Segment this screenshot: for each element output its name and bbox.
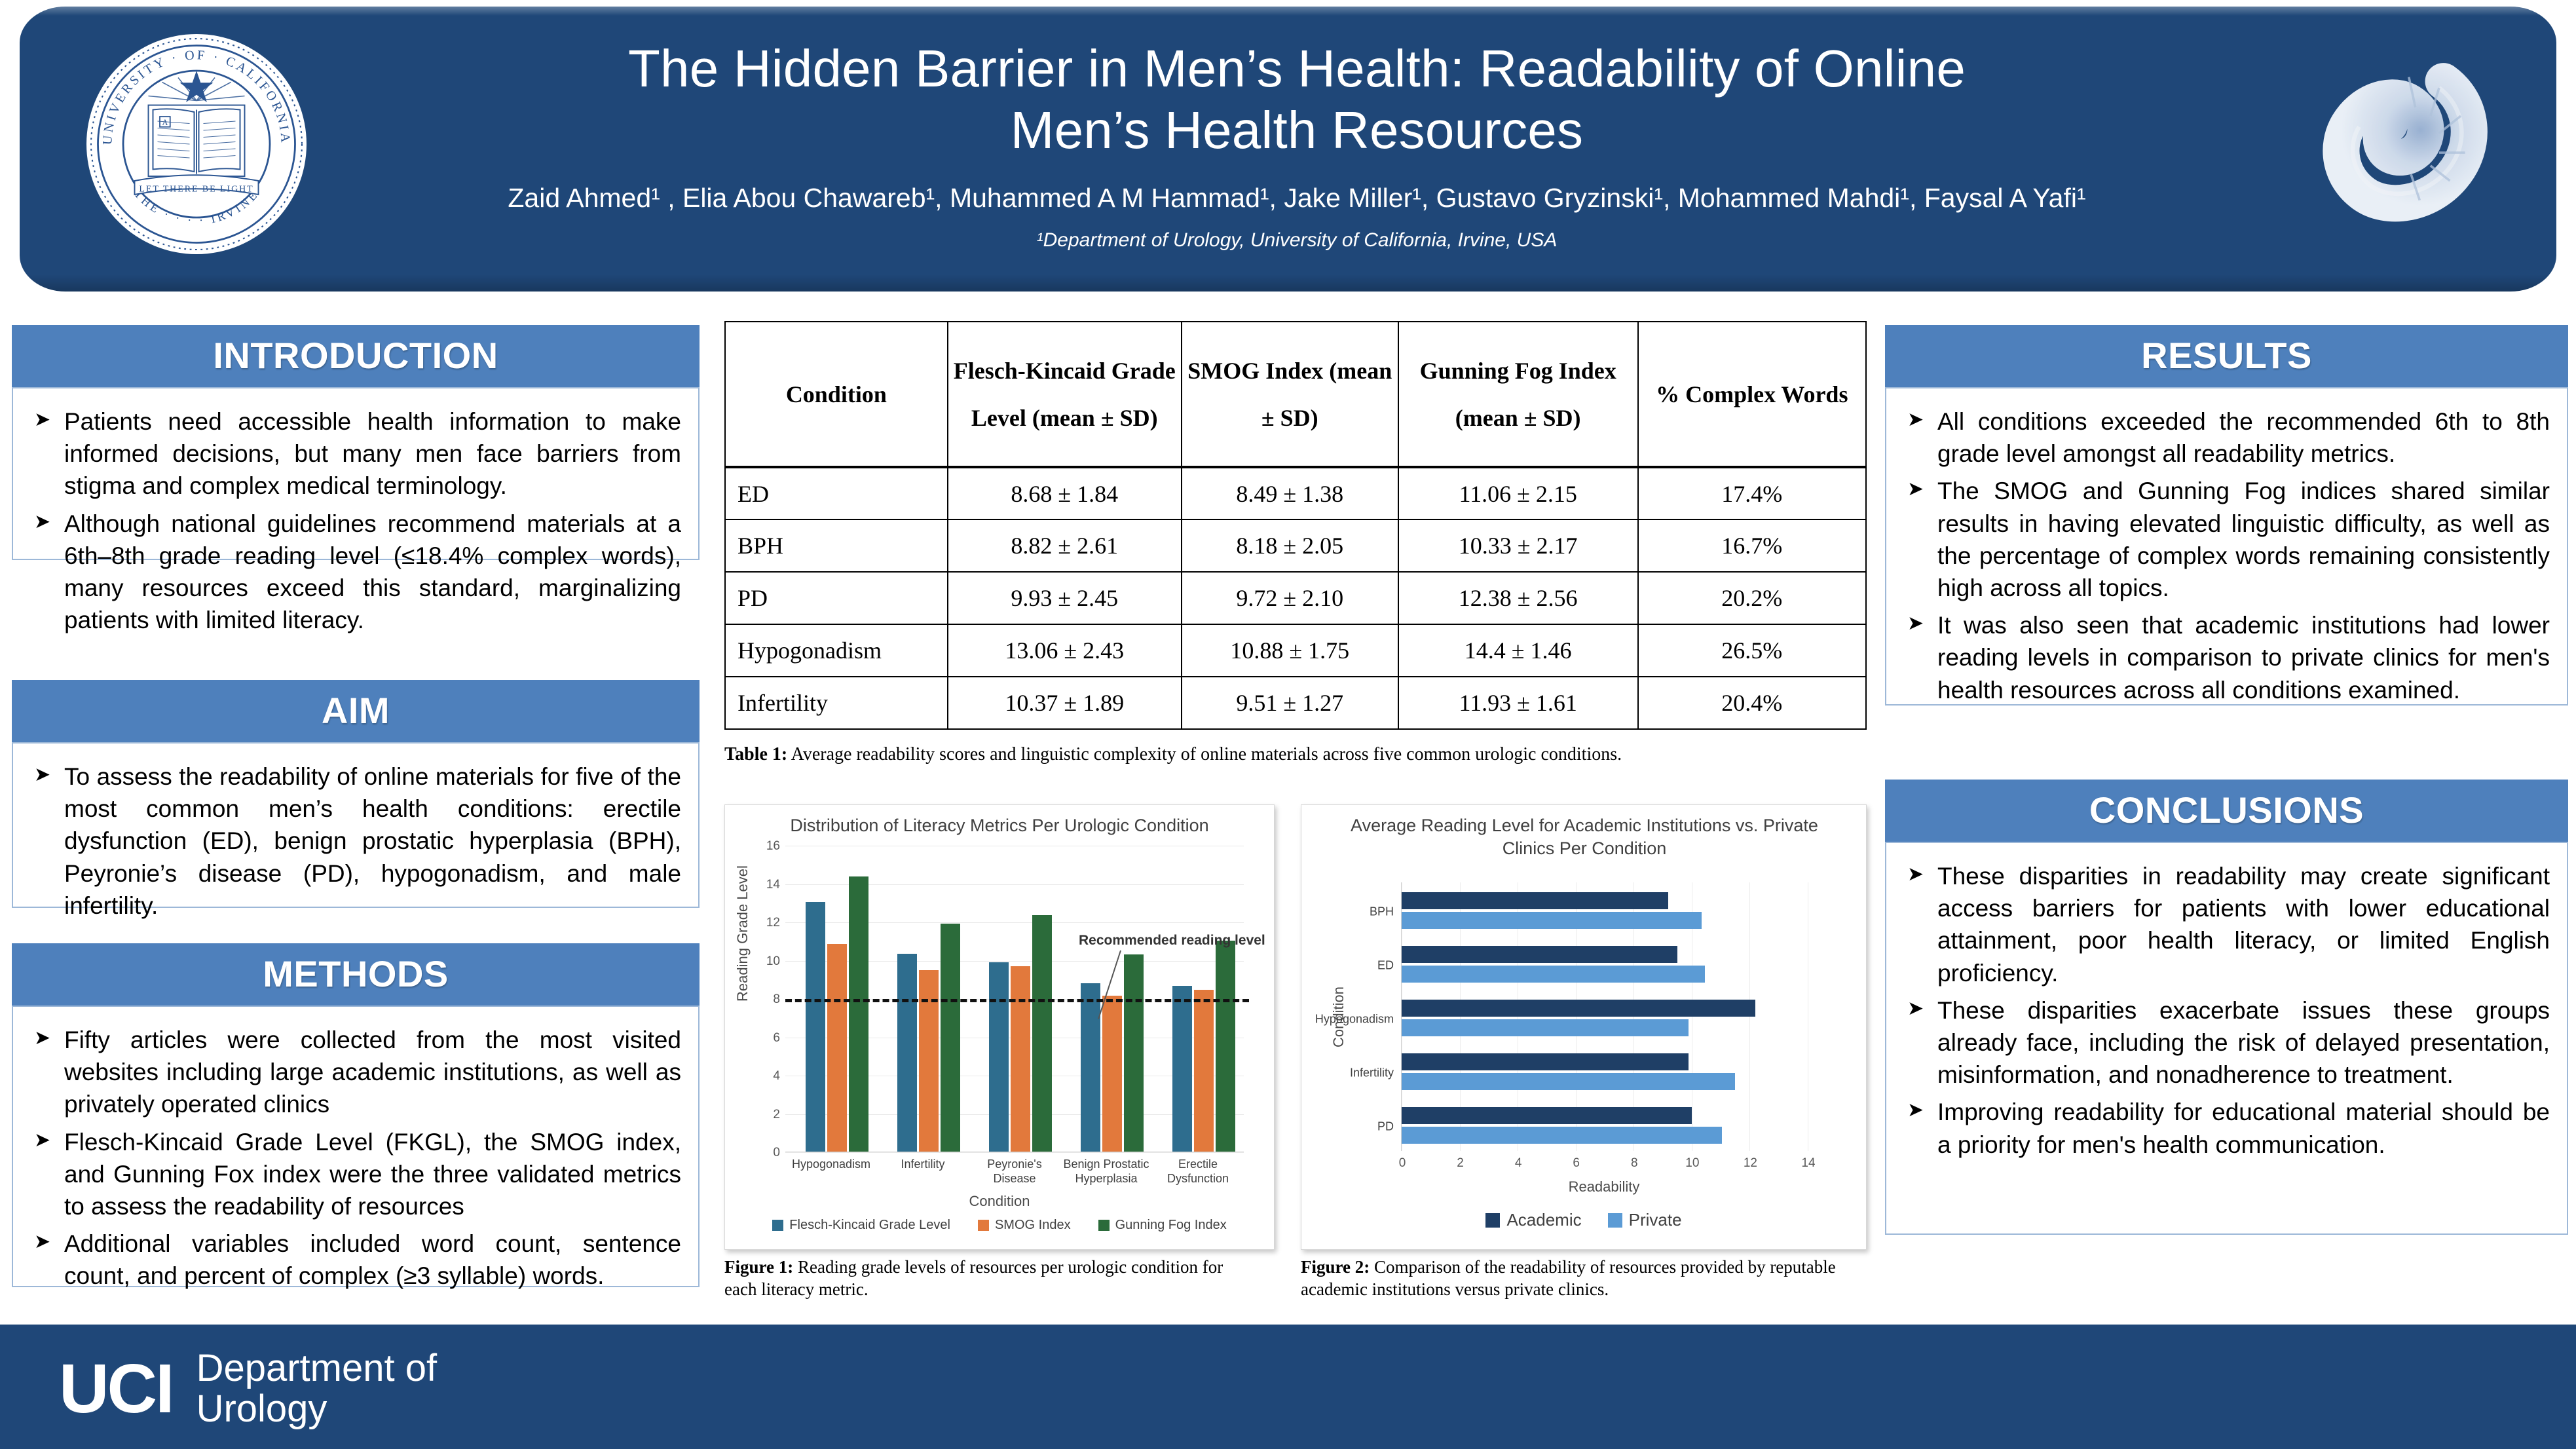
svg-text:A: A: [162, 118, 168, 127]
cell-condition: Hypogonadism: [725, 624, 948, 677]
fig1-y-tick: 0: [773, 1146, 780, 1160]
fig2-y-tick: Infertility: [1350, 1066, 1394, 1080]
cell-gunning-fog: 14.4 ± 1.46: [1398, 624, 1638, 677]
nautilus-shell-icon: [2288, 29, 2504, 246]
cell-condition: PD: [725, 572, 948, 624]
fig1-bar: [1032, 915, 1052, 1152]
list-item: It was also seen that academic instituti…: [1903, 609, 2550, 706]
fig1-title: Distribution of Literacy Metrics Per Uro…: [725, 816, 1274, 836]
fig2-title: Average Reading Level for Academic Insti…: [1328, 814, 1841, 860]
fig1-bar: [989, 962, 1009, 1152]
fig2-y-tick: BPH: [1370, 905, 1394, 918]
aim-bullets: To assess the readability of online mate…: [30, 761, 681, 922]
poster-root: UNIVERSITY · OF · CALIFORNIA THE · · · ·…: [0, 0, 2576, 1449]
fig1-bar: [919, 970, 939, 1152]
legend-label: Flesch-Kincaid Grade Level: [789, 1218, 950, 1233]
fig1-y-tick: 2: [773, 1108, 780, 1122]
col-smog: SMOG Index (mean ± SD): [1182, 322, 1398, 467]
section-conclusions: CONCLUSIONS These disparities in readabi…: [1885, 780, 2568, 1235]
cell-complex: 26.5%: [1638, 624, 1866, 677]
list-item: Flesch-Kincaid Grade Level (FKGL), the S…: [30, 1126, 681, 1223]
cell-gunning-fog: 12.38 ± 2.56: [1398, 572, 1638, 624]
fig2-bar: [1402, 946, 1677, 963]
fig2-bar: [1402, 892, 1668, 909]
list-item: These disparities exacerbate issues thes…: [1903, 994, 2550, 1091]
fig2-x-tick: 12: [1744, 1156, 1757, 1171]
fig2-x-tick: 10: [1685, 1156, 1699, 1171]
fig2-bar: [1402, 912, 1702, 929]
fig1-x-tick: Infertility: [877, 1157, 969, 1172]
cell-smog: 10.88 ± 1.75: [1182, 624, 1398, 677]
table-row: BPH 8.82 ± 2.61 8.18 ± 2.05 10.33 ± 2.17…: [725, 519, 1866, 572]
table-row: ED 8.68 ± 1.84 8.49 ± 1.38 11.06 ± 2.15 …: [725, 467, 1866, 519]
fig2-legend: AcademicPrivate: [1301, 1210, 1866, 1230]
fig1-caption-text: Reading grade levels of resources per ur…: [724, 1257, 1223, 1299]
list-item: The SMOG and Gunning Fog indices shared …: [1903, 475, 2550, 604]
fig2-bar: [1402, 1127, 1722, 1144]
fig1-x-tick: Peyronie's Disease: [969, 1157, 1060, 1186]
fig1-legend-item: Gunning Fog Index: [1098, 1218, 1227, 1233]
col-condition: Condition: [725, 322, 948, 467]
cell-fkgl: 8.68 ± 1.84: [948, 467, 1182, 519]
methods-bullets: Fifty articles were collected from the m…: [30, 1024, 681, 1292]
title-line-2: Men’s Health Resources: [439, 100, 2155, 161]
page-title: The Hidden Barrier in Men’s Health: Read…: [439, 38, 2155, 162]
fig1-bar: [1081, 983, 1100, 1152]
list-item: Patients need accessible health informat…: [30, 405, 681, 502]
fig2-x-tick: 6: [1573, 1156, 1580, 1171]
cell-smog: 8.18 ± 2.05: [1182, 519, 1398, 572]
table-row: Hypogonadism 13.06 ± 2.43 10.88 ± 1.75 1…: [725, 624, 1866, 677]
cell-smog: 8.49 ± 1.38: [1182, 467, 1398, 519]
fig1-legend-item: SMOG Index: [978, 1218, 1071, 1233]
introduction-bullets: Patients need accessible health informat…: [30, 405, 681, 636]
cell-complex: 20.2%: [1638, 572, 1866, 624]
fig1-bar: [806, 902, 825, 1152]
figure-2: Average Reading Level for Academic Insti…: [1301, 804, 1867, 1250]
fig1-y-tick: 8: [773, 992, 780, 1007]
fig2-x-tick: 14: [1801, 1156, 1815, 1171]
poster-header: UNIVERSITY · OF · CALIFORNIA THE · · · ·…: [20, 7, 2556, 292]
conclusions-bullets: These disparities in readability may cre…: [1903, 860, 2550, 1161]
fig1-annotation-label: Recommended reading level: [1079, 933, 1265, 949]
legend-label: Academic: [1506, 1210, 1581, 1230]
title-line-1: The Hidden Barrier in Men’s Health: Read…: [439, 38, 2155, 100]
fig1-y-axis-label: Reading Grade Level: [734, 865, 751, 1002]
poster-footer: UCI Department of Urology: [0, 1325, 2576, 1449]
uci-wordmark: UCI: [59, 1354, 173, 1423]
fig2-x-tick: 4: [1515, 1156, 1522, 1171]
fig2-x-axis-label: Readability: [1401, 1178, 1807, 1195]
fig1-x-tick: Benign Prostatic Hyperplasia: [1060, 1157, 1152, 1186]
department-name: Department of Urology: [196, 1348, 438, 1429]
fig1-axis-line: [785, 1152, 1244, 1152]
table-caption-label: Table 1:: [724, 744, 787, 764]
list-item: Additional variables included word count…: [30, 1228, 681, 1292]
svg-text:LET THERE BE LIGHT: LET THERE BE LIGHT: [139, 185, 253, 195]
legend-label: Gunning Fog Index: [1115, 1218, 1227, 1233]
table-header-row: Condition Flesch-Kincaid Grade Level (me…: [725, 322, 1866, 467]
figure-1-caption: Figure 1: Reading grade levels of resour…: [724, 1256, 1248, 1301]
cell-gunning-fog: 10.33 ± 2.17: [1398, 519, 1638, 572]
section-heading-results: RESULTS: [1885, 325, 2568, 387]
center-column: Condition Flesch-Kincaid Grade Level (me…: [724, 321, 1867, 766]
fig1-bar: [1011, 966, 1030, 1152]
title-block: The Hidden Barrier in Men’s Health: Read…: [439, 38, 2155, 252]
fig1-gridline: 0: [785, 1152, 1244, 1153]
fig1-x-tick: Erectile Dysfunction: [1152, 1157, 1244, 1186]
fig1-legend-item: Flesch-Kincaid Grade Level: [772, 1218, 950, 1233]
fig2-x-tick: 0: [1399, 1156, 1406, 1171]
cell-complex: 20.4%: [1638, 677, 1866, 729]
list-item: Although national guidelines recommend m…: [30, 508, 681, 637]
fig2-bar: [1402, 966, 1705, 983]
department-line-1: Department of: [196, 1348, 438, 1389]
list-item: Fifty articles were collected from the m…: [30, 1024, 681, 1121]
section-heading-methods: METHODS: [12, 943, 700, 1006]
cell-complex: 16.7%: [1638, 519, 1866, 572]
fig1-x-axis-label: Condition: [725, 1193, 1274, 1210]
fig1-bar: [1172, 986, 1192, 1152]
table-row: PD 9.93 ± 2.45 9.72 ± 2.10 12.38 ± 2.56 …: [725, 572, 1866, 624]
fig1-y-tick: 10: [766, 954, 780, 969]
legend-swatch: [1485, 1213, 1500, 1228]
cell-fkgl: 10.37 ± 1.89: [948, 677, 1182, 729]
fig1-y-tick: 4: [773, 1069, 780, 1083]
fig2-gridline: 14: [1808, 882, 1808, 1151]
legend-swatch: [772, 1220, 783, 1231]
fig1-y-tick: 14: [766, 878, 780, 892]
fig2-caption-label: Figure 2:: [1301, 1257, 1370, 1277]
table-caption: Table 1: Average readability scores and …: [724, 743, 1867, 766]
fig1-bar: [941, 924, 960, 1152]
affiliation: ¹Department of Urology, University of Ca…: [439, 229, 2155, 252]
section-aim: AIM To assess the readability of online …: [12, 680, 700, 908]
legend-swatch: [1608, 1213, 1622, 1228]
cell-condition: ED: [725, 467, 948, 519]
cell-gunning-fog: 11.93 ± 1.61: [1398, 677, 1638, 729]
results-bullets: All conditions exceeded the recommended …: [1903, 405, 2550, 706]
fig1-recommended-level-line: [785, 999, 1249, 1002]
fig2-legend-item: Academic: [1485, 1210, 1581, 1230]
table-row: Infertility 10.37 ± 1.89 9.51 ± 1.27 11.…: [725, 677, 1866, 729]
col-fkgl: Flesch-Kincaid Grade Level (mean ± SD): [948, 322, 1182, 467]
fig2-bar: [1402, 1053, 1689, 1070]
fig1-bar: [1216, 941, 1235, 1153]
author-list: Zaid Ahmed¹ , Elia Abou Chawareb¹, Muham…: [439, 181, 2155, 215]
fig2-bar: [1402, 1000, 1755, 1017]
section-heading-aim: AIM: [12, 680, 700, 742]
fig2-legend-item: Private: [1608, 1210, 1682, 1230]
list-item: These disparities in readability may cre…: [1903, 860, 2550, 989]
cell-fkgl: 13.06 ± 2.43: [948, 624, 1182, 677]
fig2-bar: [1402, 1019, 1689, 1036]
col-percent-complex: % Complex Words: [1638, 322, 1866, 467]
fig1-y-tick: 16: [766, 839, 780, 854]
figure-2-caption: Figure 2: Comparison of the readability …: [1301, 1256, 1851, 1301]
fig1-y-tick: 12: [766, 916, 780, 930]
section-heading-introduction: INTRODUCTION: [12, 325, 700, 387]
fig2-y-tick: Hypogonadism: [1315, 1012, 1394, 1026]
fig1-y-tick: 6: [773, 1031, 780, 1045]
section-results: RESULTS All conditions exceeded the reco…: [1885, 325, 2568, 706]
figures-row: Distribution of Literacy Metrics Per Uro…: [724, 804, 1867, 1322]
list-item: To assess the readability of online mate…: [30, 761, 681, 922]
cell-gunning-fog: 11.06 ± 2.15: [1398, 467, 1638, 519]
fig2-y-tick: ED: [1377, 958, 1394, 972]
section-methods: METHODS Fifty articles were collected fr…: [12, 943, 700, 1287]
uc-seal-logo: UNIVERSITY · OF · CALIFORNIA THE · · · ·…: [82, 29, 311, 259]
fig2-bar: [1402, 1107, 1692, 1124]
fig2-bar: [1402, 1073, 1735, 1090]
section-introduction: INTRODUCTION Patients need accessible he…: [12, 325, 700, 560]
fig1-bar: [827, 944, 847, 1152]
fig2-plot-area: 02468101214BPHEDHypogonadismInfertilityP…: [1401, 882, 1807, 1151]
fig1-legend: Flesch-Kincaid Grade LevelSMOG IndexGunn…: [725, 1218, 1274, 1233]
cell-complex: 17.4%: [1638, 467, 1866, 519]
col-gunning-fog: Gunning Fog Index (mean ± SD): [1398, 322, 1638, 467]
cell-condition: Infertility: [725, 677, 948, 729]
list-item: All conditions exceeded the recommended …: [1903, 405, 2550, 470]
fig1-bar: [1124, 954, 1144, 1152]
cell-condition: BPH: [725, 519, 948, 572]
legend-swatch: [978, 1220, 989, 1231]
fig2-y-tick: PD: [1377, 1120, 1394, 1133]
section-heading-conclusions: CONCLUSIONS: [1885, 780, 2568, 842]
figure-1: Distribution of Literacy Metrics Per Uro…: [724, 804, 1275, 1250]
fig2-x-tick: 2: [1457, 1156, 1464, 1171]
fig1-bar: [897, 954, 917, 1152]
list-item: Improving readability for educational ma…: [1903, 1096, 2550, 1160]
uci-department-logo: UCI Department of Urology: [59, 1348, 437, 1429]
cell-smog: 9.72 ± 2.10: [1182, 572, 1398, 624]
fig1-caption-label: Figure 1:: [724, 1257, 793, 1277]
table-caption-text: Average readability scores and linguisti…: [787, 744, 1622, 764]
fig1-bar: [849, 876, 868, 1152]
readability-table: Condition Flesch-Kincaid Grade Level (me…: [724, 321, 1867, 730]
fig1-bar: [1102, 996, 1122, 1152]
fig1-bar: [1194, 990, 1214, 1152]
fig1-x-tick: Hypogonadism: [785, 1157, 877, 1172]
cell-fkgl: 9.93 ± 2.45: [948, 572, 1182, 624]
cell-fkgl: 8.82 ± 2.61: [948, 519, 1182, 572]
cell-smog: 9.51 ± 1.27: [1182, 677, 1398, 729]
department-line-2: Urology: [196, 1389, 438, 1429]
fig2-x-tick: 8: [1631, 1156, 1638, 1171]
fig2-gridline: 12: [1749, 882, 1750, 1151]
legend-label: Private: [1629, 1210, 1682, 1230]
legend-label: SMOG Index: [995, 1218, 1071, 1233]
legend-swatch: [1098, 1220, 1110, 1231]
fig2-caption-text: Comparison of the readability of resourc…: [1301, 1257, 1836, 1299]
